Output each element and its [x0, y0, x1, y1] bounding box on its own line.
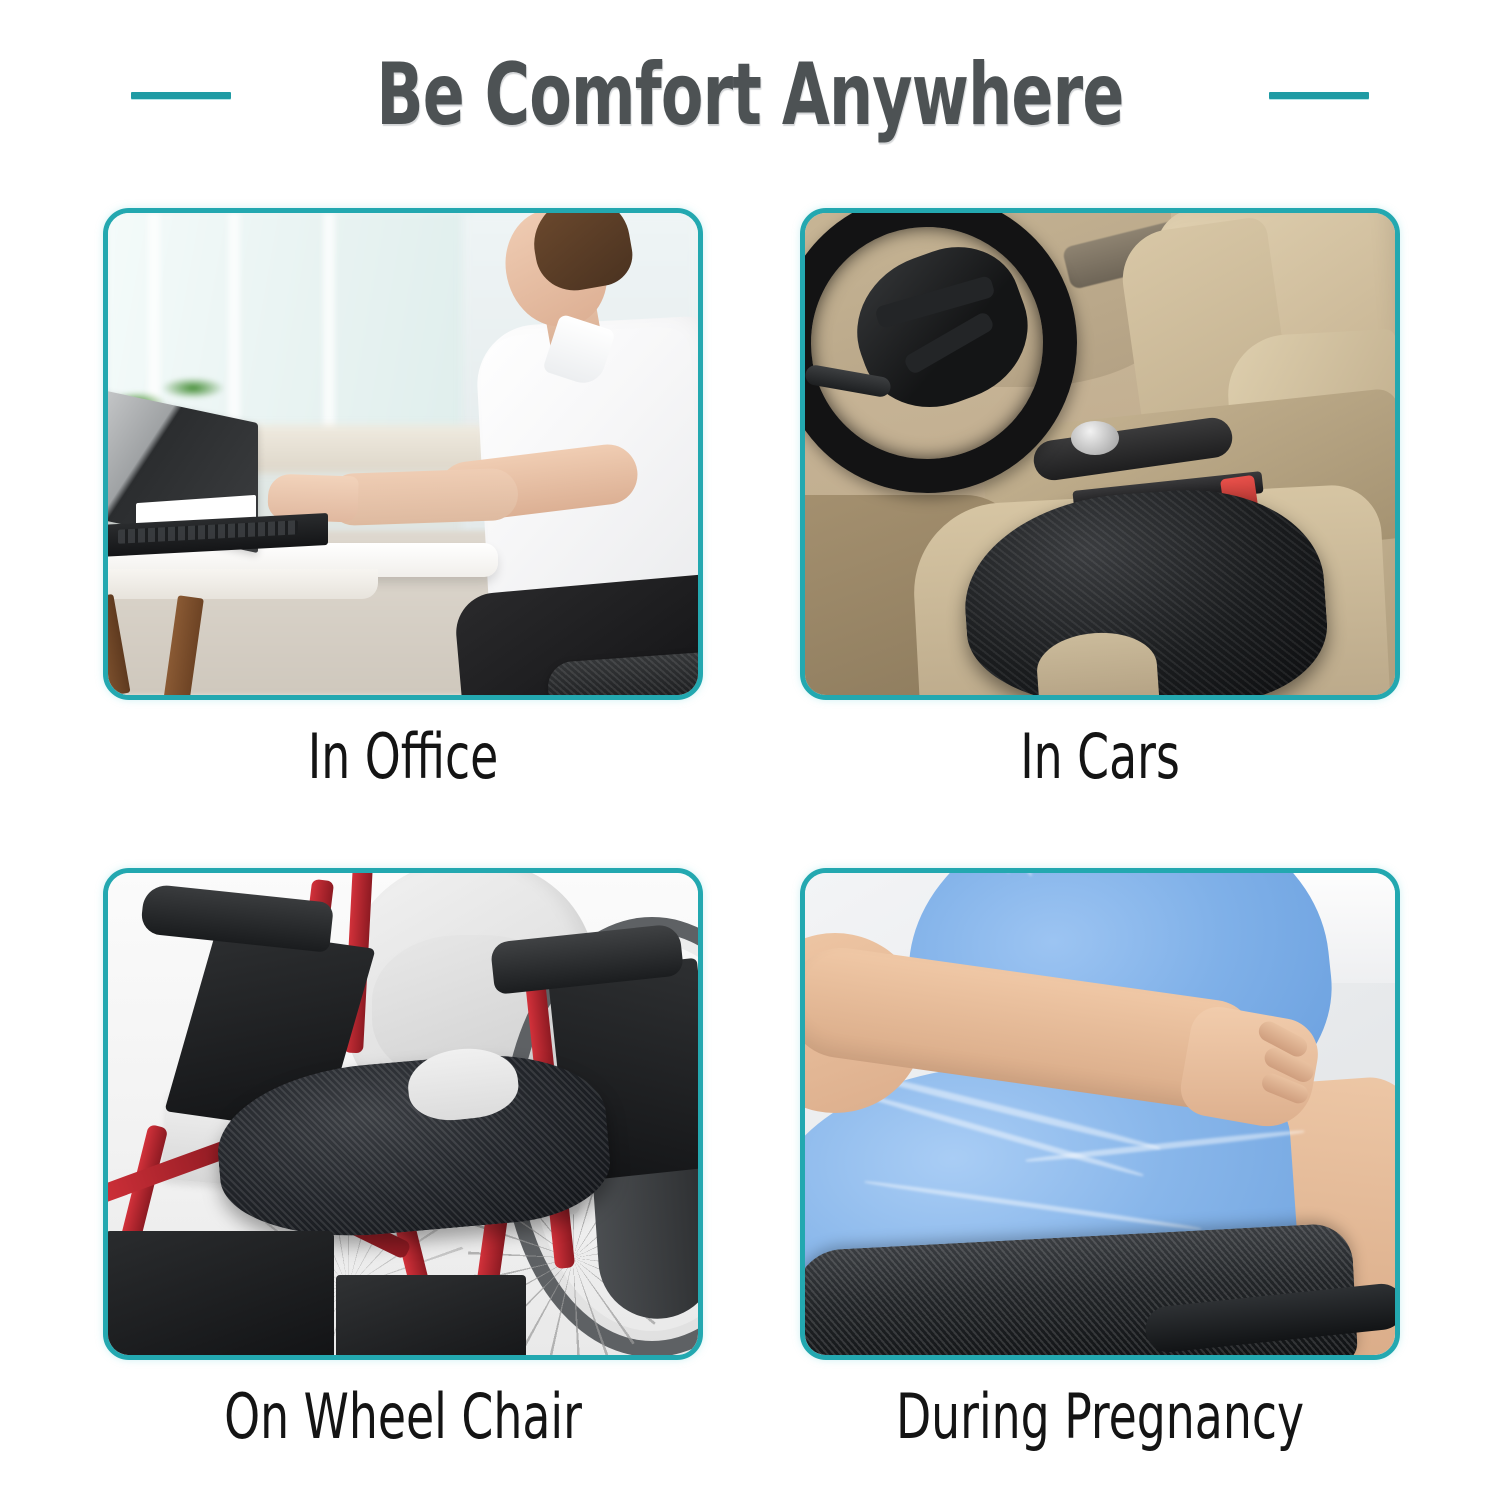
- photo-wheelchair: [108, 873, 698, 1355]
- panel-grid: In Office: [0, 0, 1500, 1500]
- wheelchair-armrest-left: [140, 883, 334, 953]
- panel-cars: In Cars: [800, 208, 1400, 793]
- photo-frame-wheelchair: [103, 868, 703, 1360]
- photo-pregnancy: [805, 873, 1395, 1355]
- caption-cars: In Cars: [854, 720, 1346, 793]
- caption-wheelchair: On Wheel Chair: [157, 1380, 649, 1453]
- panel-office: In Office: [103, 208, 703, 793]
- product-infographic: Be Comfort Anywhere: [0, 0, 1500, 1500]
- photo-office: [108, 213, 698, 695]
- panel-wheelchair: On Wheel Chair: [103, 868, 703, 1453]
- gear-knob: [1071, 421, 1119, 455]
- caption-office: In Office: [157, 720, 649, 793]
- photo-frame-cars: [800, 208, 1400, 700]
- panel-pregnancy: During Pregnancy: [800, 868, 1400, 1453]
- office-person: [398, 213, 698, 673]
- caption-pregnancy: During Pregnancy: [854, 1380, 1346, 1453]
- photo-frame-pregnancy: [800, 868, 1400, 1360]
- photo-cars: [805, 213, 1395, 695]
- photo-frame-office: [103, 208, 703, 700]
